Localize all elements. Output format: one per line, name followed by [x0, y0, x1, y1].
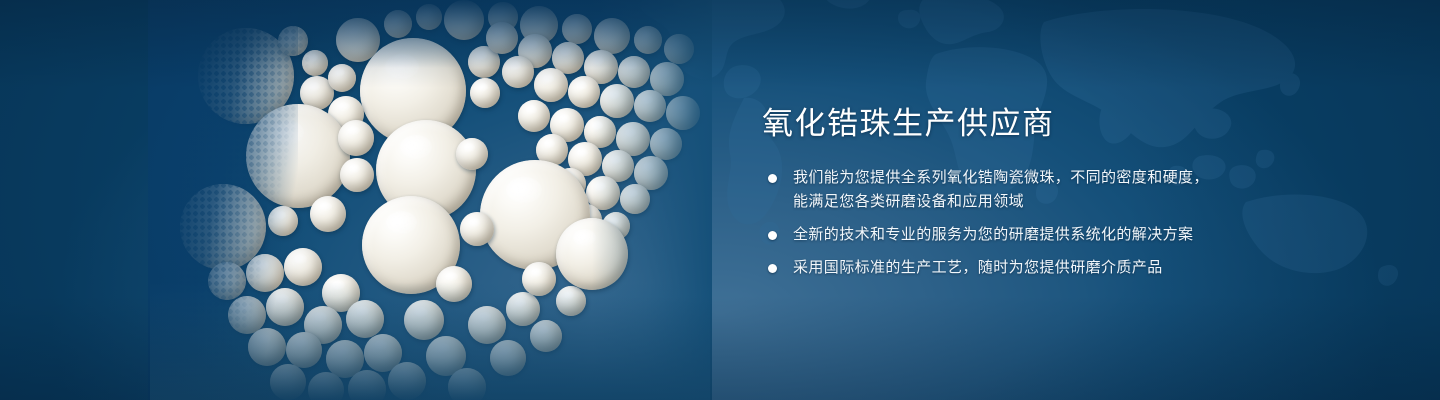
bullet-item: 全新的技术和专业的服务为您的研磨提供系统化的解决方案 — [762, 223, 1282, 247]
banner-headline: 氧化锆珠生产供应商 — [762, 104, 1282, 144]
hero-banner: 氧化锆珠生产供应商 我们能为您提供全系列氧化锆陶瓷微珠，不同的密度和硬度， 能满… — [0, 0, 1440, 400]
bullet-text-line1: 我们能为您提供全系列氧化锆陶瓷微珠，不同的密度和硬度， — [793, 169, 1209, 186]
bullet-text-line1: 采用国际标准的生产工艺，随时为您提供研磨介质产品 — [793, 259, 1163, 276]
banner-copy-block: 氧化锆珠生产供应商 我们能为您提供全系列氧化锆陶瓷微珠，不同的密度和硬度， 能满… — [762, 104, 1282, 280]
bullet-text-line1: 全新的技术和专业的服务为您的研磨提供系统化的解决方案 — [793, 226, 1193, 243]
bullet-dot-icon — [768, 231, 777, 240]
bullet-text-line2: 能满足您各类研磨设备和应用领域 — [793, 190, 1282, 214]
bullet-item: 我们能为您提供全系列氧化锆陶瓷微珠，不同的密度和硬度， 能满足您各类研磨设备和应… — [762, 166, 1282, 214]
banner-bullet-list: 我们能为您提供全系列氧化锆陶瓷微珠，不同的密度和硬度， 能满足您各类研磨设备和应… — [762, 166, 1282, 280]
bullet-dot-icon — [768, 264, 777, 273]
bullet-item: 采用国际标准的生产工艺，随时为您提供研磨介质产品 — [762, 256, 1282, 280]
bullet-dot-icon — [768, 174, 777, 183]
